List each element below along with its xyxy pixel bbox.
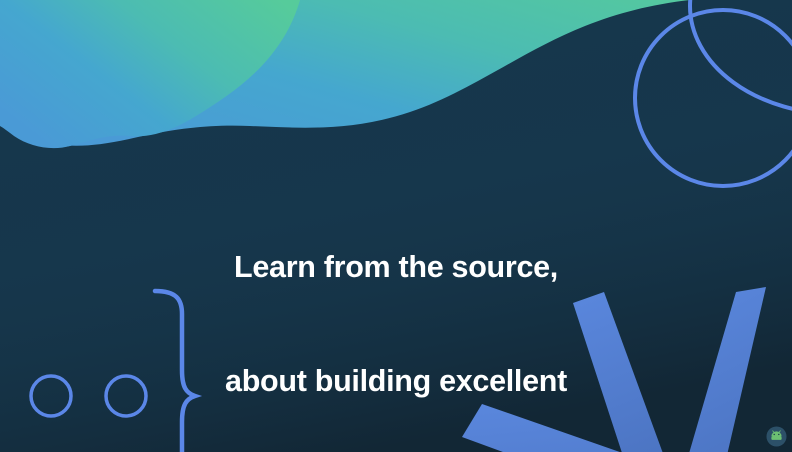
page-title: Learn from the source, about building ex… <box>0 172 792 452</box>
headline-line-2: about building excellent <box>0 362 792 400</box>
headline-line-1: Learn from the source, <box>0 248 792 286</box>
android-robot-badge <box>766 426 787 447</box>
slide-canvas: Learn from the source, about building ex… <box>0 0 792 452</box>
